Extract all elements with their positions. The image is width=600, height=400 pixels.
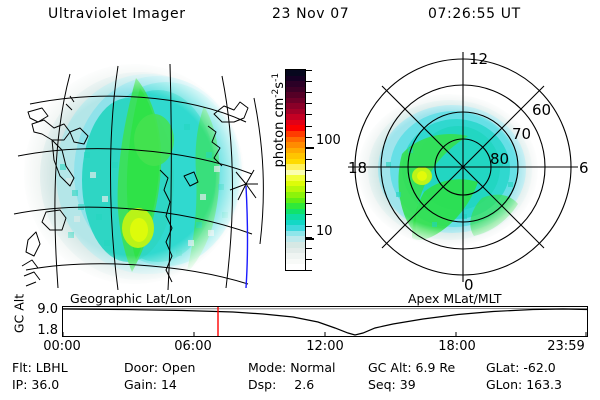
- status-seq-key: Seq:: [368, 377, 396, 392]
- mlt-label-6: 6: [579, 159, 589, 177]
- gc-alt-axis-label: GC Alt: [12, 292, 27, 336]
- apex-strip-title: Apex MLat/MLT: [408, 291, 502, 306]
- colorbar-exp-2: -1: [271, 73, 281, 82]
- status-glon-value: 163.3: [526, 377, 562, 392]
- colorbar-tick: [306, 170, 312, 171]
- observation-time: 07:26:55 UT: [428, 6, 521, 22]
- colorbar-group: photon cm-2s-1 100 10: [266, 58, 336, 288]
- status-mode-value: Normal: [290, 360, 335, 375]
- mlat-label-80: 80: [490, 150, 509, 168]
- status-dsp-key: Dsp:: [248, 377, 276, 392]
- mlt-label-12: 12: [469, 50, 488, 68]
- status-glat: GLat: -62.0: [486, 360, 556, 375]
- status-footer: Flt: LBHL IP: 36.0 Door: Open Gain: 14 M…: [0, 360, 600, 398]
- status-ip-key: IP:: [12, 377, 27, 392]
- status-gain-key: Gain:: [124, 377, 157, 392]
- terminator-line: [246, 186, 248, 288]
- status-mode: Mode: Normal: [248, 360, 336, 375]
- colorbar-tick: [306, 181, 312, 182]
- status-gain-value: 14: [161, 377, 177, 392]
- status-filter-value: LBHL: [36, 360, 68, 375]
- colorbar-tick: [306, 214, 312, 215]
- colorbar-major-tick: [306, 147, 314, 149]
- status-gc-alt-key: GC Alt:: [368, 360, 412, 375]
- orbit-altitude-curve: [63, 307, 587, 336]
- colorbar-tick: [306, 203, 312, 204]
- colorbar-tick: [306, 114, 312, 115]
- status-door-value: Open: [162, 360, 195, 375]
- colorbar-tick: [306, 159, 312, 160]
- colorbar-tick: [306, 81, 312, 82]
- status-glat-value: -62.0: [523, 360, 555, 375]
- mlt-label-18: 18: [348, 159, 367, 177]
- status-dsp: Dsp: 2.6: [248, 377, 314, 392]
- ultraviolet-imager-window: Ultraviolet Imager 23 Nov 07 07:26:55 UT: [0, 0, 600, 400]
- observation-date: 23 Nov 07: [272, 6, 349, 22]
- status-gc-alt-value: 6.9 Re: [416, 360, 456, 375]
- colorbar-tick: [306, 70, 312, 71]
- time-tick-0000: 00:00: [43, 339, 80, 354]
- gc-alt-max-value: 9.0: [26, 302, 58, 317]
- status-door-key: Door:: [124, 360, 158, 375]
- page-title: Ultraviolet Imager: [48, 6, 186, 22]
- time-tick-1200: 12:00: [306, 339, 343, 354]
- colorbar-tick: [306, 259, 312, 260]
- colorbar-label-10: 10: [316, 225, 333, 238]
- colorbar-exp-1: -2: [271, 89, 281, 98]
- mlt-spokes: [348, 52, 578, 282]
- colorbar-tick: [306, 137, 312, 138]
- geographic-strip-title: Geographic Lat/Lon: [70, 291, 192, 306]
- colorbar-scale: [285, 69, 306, 271]
- status-glat-key: GLat:: [486, 360, 519, 375]
- geographic-map-panel: [8, 44, 264, 290]
- status-glon: GLon: 163.3: [486, 377, 562, 392]
- mlat-label-70: 70: [512, 125, 531, 143]
- mlat-label-60: 60: [532, 101, 551, 119]
- colorbar-tick: [306, 248, 312, 249]
- status-ip-value: 36.0: [31, 377, 59, 392]
- gc-alt-min-value: 1.8: [26, 323, 58, 338]
- colorbar-segment: [286, 264, 305, 270]
- orbit-plot-box[interactable]: [62, 306, 588, 337]
- colorbar-tick: [306, 226, 312, 227]
- colorbar-tick: [306, 192, 312, 193]
- polar-dial-svg: 12 6 0 18 60 70 80: [332, 42, 594, 292]
- header-bar: Ultraviolet Imager 23 Nov 07 07:26:55 UT: [0, 6, 600, 32]
- status-mode-key: Mode:: [248, 360, 286, 375]
- status-glon-key: GLon:: [486, 377, 522, 392]
- geographic-map-svg: [8, 44, 264, 290]
- time-tick-1800: 18:00: [438, 339, 475, 354]
- time-tick-0600: 06:00: [174, 339, 211, 354]
- status-seq: Seq: 39: [368, 377, 416, 392]
- status-door: Door: Open: [124, 360, 195, 375]
- status-gc-alt: GC Alt: 6.9 Re: [368, 360, 455, 375]
- time-tick-2359: 23:59: [547, 339, 584, 354]
- status-dsp-value: 2.6: [294, 377, 314, 392]
- polar-dial-panel: 12 6 0 18 60 70 80: [332, 42, 594, 292]
- mlt-label-0: 0: [464, 276, 474, 292]
- aurora-emission-polar: [358, 94, 538, 246]
- status-seq-value: 39: [400, 377, 416, 392]
- status-ip: IP: 36.0: [12, 377, 59, 392]
- status-gain: Gain: 14: [124, 377, 177, 392]
- colorbar-ticks: [306, 69, 314, 271]
- status-filter-key: Flt:: [12, 360, 32, 375]
- colorbar-tick: [306, 92, 312, 93]
- orbit-altitude-strip: Geographic Lat/Lon Apex MLat/MLT GC Alt …: [0, 292, 600, 354]
- colorbar-tick: [306, 270, 312, 271]
- status-filter: Flt: LBHL: [12, 360, 68, 375]
- colorbar-major-tick: [306, 238, 314, 240]
- colorbar-tick: [306, 103, 312, 104]
- colorbar-tick: [306, 126, 312, 127]
